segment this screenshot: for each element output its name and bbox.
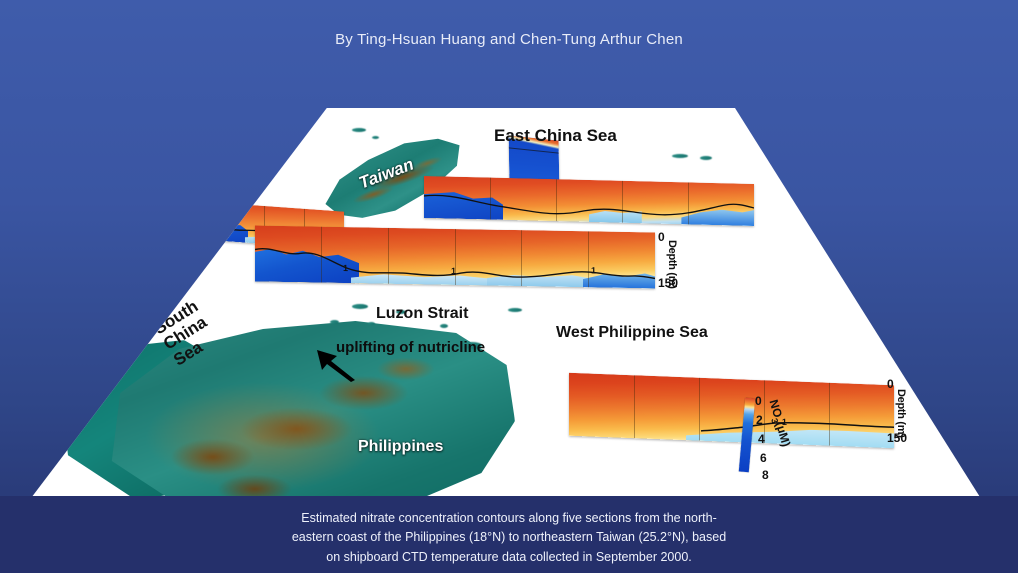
section-2-contour-curve bbox=[424, 176, 754, 226]
colorbar-title: NO3(μM) bbox=[764, 398, 793, 449]
section-panel-4: 1 1 1 bbox=[255, 226, 655, 289]
colorbar-title-main: NO bbox=[767, 398, 785, 419]
map-plane: 1 1 1 1 East China Sea Taiwan Luzon Stra… bbox=[0, 108, 1018, 496]
depth-axis-2-bottom-tick: 150 bbox=[887, 431, 907, 445]
label-east-china-sea: East China Sea bbox=[494, 127, 617, 145]
nutricline-arrow-icon bbox=[313, 348, 357, 382]
section-5-contour-curve bbox=[569, 373, 894, 448]
label-luzon-strait: Luzon Strait bbox=[376, 305, 468, 322]
byline: By Ting-Hsuan Huang and Chen-Tung Arthur… bbox=[0, 31, 1018, 48]
islet bbox=[700, 156, 712, 160]
islet bbox=[368, 322, 375, 325]
depth-axis-2-top-tick: 0 bbox=[887, 377, 894, 391]
caption-line-2: eastern coast of the Philippines (18°N) … bbox=[0, 528, 1018, 547]
section-panel-2 bbox=[424, 176, 754, 226]
caption-text: Estimated nitrate concentration contours… bbox=[0, 509, 1018, 567]
islet bbox=[440, 324, 448, 328]
annotation-uplifting-of-nutricline: uplifting of nutricline bbox=[336, 339, 485, 356]
colorbar-gradient-strip bbox=[739, 398, 755, 473]
contour-label-1: 1 bbox=[591, 266, 596, 276]
grid-line bbox=[224, 203, 225, 241]
label-west-philippine-sea: West Philippine Sea bbox=[556, 324, 708, 341]
islet bbox=[330, 320, 339, 324]
colorbar-tick-8: 8 bbox=[762, 468, 769, 482]
depth-axis-2: 0 Depth (m) 150 bbox=[887, 379, 931, 443]
colorbar-title-unit: (μM) bbox=[773, 420, 793, 448]
depth-axis-1-top-tick: 0 bbox=[658, 230, 665, 244]
section-panel-5: 1 bbox=[569, 373, 894, 448]
colorbar-tick-2: 2 bbox=[756, 413, 763, 427]
colorbar-tick-4: 4 bbox=[758, 432, 765, 446]
label-philippines: Philippines bbox=[358, 438, 443, 455]
islet bbox=[352, 304, 368, 309]
colorbar-tick-0: 0 bbox=[755, 394, 762, 408]
figure-root: By Ting-Hsuan Huang and Chen-Tung Arthur… bbox=[0, 0, 1018, 573]
islet bbox=[372, 136, 379, 139]
caption-band: Estimated nitrate concentration contours… bbox=[0, 496, 1018, 573]
depth-axis-1-bottom-tick: 150 bbox=[658, 276, 678, 290]
caption-line-3: on shipboard CTD temperature data collec… bbox=[0, 548, 1018, 567]
contour-label-1: 1 bbox=[343, 264, 348, 274]
colorbar-tick-6: 6 bbox=[760, 451, 767, 465]
islet bbox=[352, 128, 366, 132]
section-4-contour-curve bbox=[255, 226, 655, 289]
islet bbox=[672, 154, 688, 158]
caption-line-1: Estimated nitrate concentration contours… bbox=[0, 509, 1018, 528]
depth-axis-1: 0 Depth (m) 150 bbox=[658, 232, 702, 288]
contour-label-1: 1 bbox=[451, 267, 456, 277]
colorbar-legend: 0 2 4 6 8 NO3(μM) bbox=[740, 394, 810, 480]
islet bbox=[508, 308, 522, 312]
